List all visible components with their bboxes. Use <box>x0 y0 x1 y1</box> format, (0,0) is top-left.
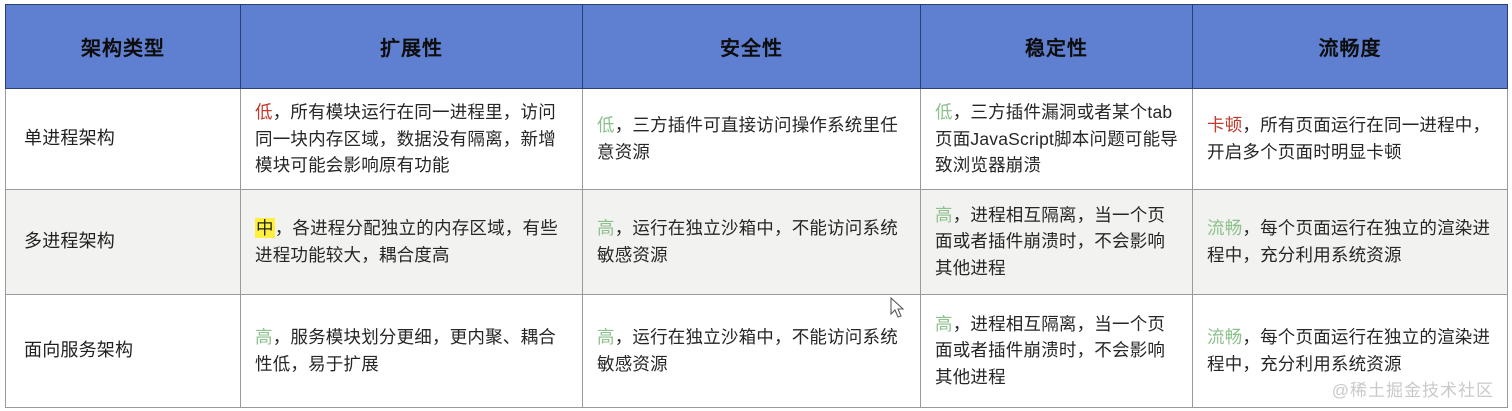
cell-security: 高，运行在独立沙箱中，不能访问系统敏感资源 <box>583 294 921 407</box>
cell-stability: 低，三方插件漏洞或者某个tab页面JavaScript脚本问题可能导致浏览器崩溃 <box>921 89 1193 190</box>
cell-arch-type: 多进程架构 <box>6 189 241 294</box>
rating-tag: 低 <box>935 102 953 122</box>
cell-text: ，三方插件漏洞或者某个tab页面JavaScript脚本问题可能导致浏览器崩溃 <box>935 102 1178 175</box>
rating-tag: 高 <box>597 327 615 347</box>
cell-text: ，每个页面运行在独立的渲染进程中，充分利用系统资源 <box>1207 327 1490 374</box>
rating-tag: 流畅 <box>1207 327 1242 347</box>
table-body: 单进程架构 低，所有模块运行在同一进程里，访问同一块内存区域，数据没有隔离，新增… <box>6 89 1508 408</box>
header-row: 架构类型 扩展性 安全性 稳定性 流畅度 <box>6 5 1508 89</box>
rating-tag: 卡顿 <box>1207 115 1242 135</box>
cell-text: ，运行在独立沙箱中，不能访问系统敏感资源 <box>597 218 898 265</box>
cell-text: ，运行在独立沙箱中，不能访问系统敏感资源 <box>597 327 898 374</box>
cell-extensibility: 低，所有模块运行在同一进程里，访问同一块内存区域，数据没有隔离，新增模块可能会影… <box>241 89 583 190</box>
architecture-comparison-table: 架构类型 扩展性 安全性 稳定性 流畅度 单进程架构 低，所有模块运行在同一进程… <box>5 4 1508 408</box>
table-header: 架构类型 扩展性 安全性 稳定性 流畅度 <box>6 5 1508 89</box>
cell-text: ，各进程分配独立的内存区域，有些进程功能较大，耦合度高 <box>255 218 558 265</box>
rating-tag: 高 <box>935 314 953 334</box>
rating-tag: 低 <box>255 102 273 122</box>
column-header-extensibility: 扩展性 <box>241 5 583 89</box>
rating-tag: 低 <box>597 115 615 135</box>
rating-tag: 高 <box>935 205 953 225</box>
cell-arch-type: 面向服务架构 <box>6 294 241 407</box>
cell-extensibility: 高，服务模块划分更细，更内聚、耦合性低，易于扩展 <box>241 294 583 407</box>
cell-fluency: 流畅，每个页面运行在独立的渲染进程中，充分利用系统资源 <box>1193 294 1508 407</box>
cell-text: ，服务模块划分更细，更内聚、耦合性低，易于扩展 <box>255 327 556 374</box>
column-header-stability: 稳定性 <box>921 5 1193 89</box>
rating-tag: 流畅 <box>1207 218 1242 238</box>
cell-text: ，所有页面运行在同一进程中，开启多个页面时明显卡顿 <box>1207 115 1490 162</box>
rating-tag: 高 <box>597 218 615 238</box>
rating-tag: 中 <box>255 218 275 238</box>
cell-security: 高，运行在独立沙箱中，不能访问系统敏感资源 <box>583 189 921 294</box>
cell-text: ，进程相互隔离，当一个页面或者插件崩溃时，不会影响其他进程 <box>935 314 1165 387</box>
rating-tag: 高 <box>255 327 273 347</box>
column-header-arch-type: 架构类型 <box>6 5 241 89</box>
column-header-security: 安全性 <box>583 5 921 89</box>
cell-fluency: 卡顿，所有页面运行在同一进程中，开启多个页面时明显卡顿 <box>1193 89 1508 190</box>
cell-text: ，三方插件可直接访问操作系统里任意资源 <box>597 115 898 162</box>
cell-security: 低，三方插件可直接访问操作系统里任意资源 <box>583 89 921 190</box>
cell-stability: 高，进程相互隔离，当一个页面或者插件崩溃时，不会影响其他进程 <box>921 294 1193 407</box>
screenshot-root: 架构类型 扩展性 安全性 稳定性 流畅度 单进程架构 低，所有模块运行在同一进程… <box>0 4 1512 411</box>
cell-fluency: 流畅，每个页面运行在独立的渲染进程中，充分利用系统资源 <box>1193 189 1508 294</box>
cell-stability: 高，进程相互隔离，当一个页面或者插件崩溃时，不会影响其他进程 <box>921 189 1193 294</box>
cell-text: ，进程相互隔离，当一个页面或者插件崩溃时，不会影响其他进程 <box>935 205 1165 278</box>
column-header-fluency: 流畅度 <box>1193 5 1508 89</box>
cell-text: ，所有模块运行在同一进程里，访问同一块内存区域，数据没有隔离，新增模块可能会影响… <box>255 102 556 175</box>
table-row: 面向服务架构 高，服务模块划分更细，更内聚、耦合性低，易于扩展 高，运行在独立沙… <box>6 294 1508 407</box>
cell-arch-type: 单进程架构 <box>6 89 241 190</box>
cell-text: ，每个页面运行在独立的渲染进程中，充分利用系统资源 <box>1207 218 1490 265</box>
table-row: 多进程架构 中，各进程分配独立的内存区域，有些进程功能较大，耦合度高 高，运行在… <box>6 189 1508 294</box>
cell-extensibility: 中，各进程分配独立的内存区域，有些进程功能较大，耦合度高 <box>241 189 583 294</box>
table-row: 单进程架构 低，所有模块运行在同一进程里，访问同一块内存区域，数据没有隔离，新增… <box>6 89 1508 190</box>
